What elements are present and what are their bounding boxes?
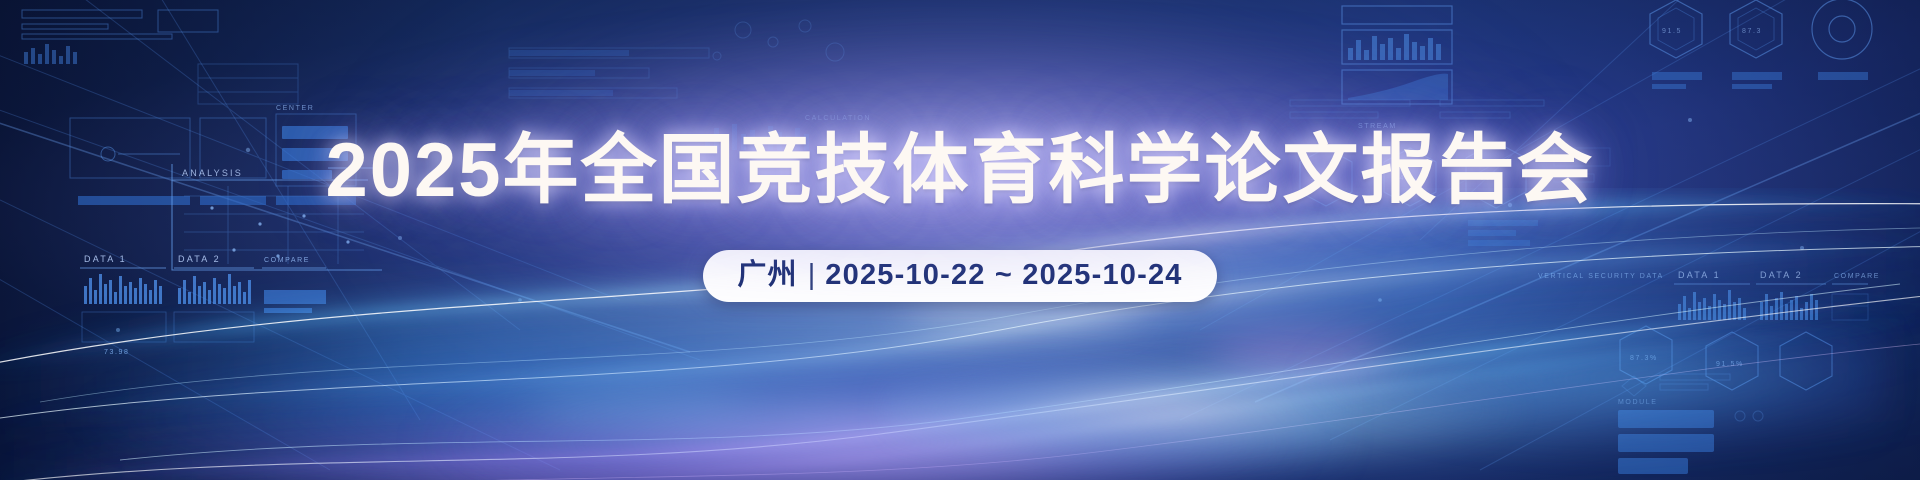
title-block: 2025年全国竞技体育科学论文报告会 — [325, 108, 1594, 218]
pill-separator: | — [808, 259, 816, 292]
page-title: 2025年全国竞技体育科学论文报告会 — [325, 108, 1594, 218]
event-info-pill: 广州 | 2025-10-22 ~ 2025-10-24 — [703, 250, 1216, 302]
banner-content: 2025年全国竞技体育科学论文报告会 广州 | 2025-10-22 ~ 202… — [0, 0, 1920, 480]
event-date-range: 2025-10-22 ~ 2025-10-24 — [825, 257, 1182, 293]
event-location: 广州 — [737, 257, 797, 293]
conference-banner: CALCULATION — [0, 0, 1920, 480]
